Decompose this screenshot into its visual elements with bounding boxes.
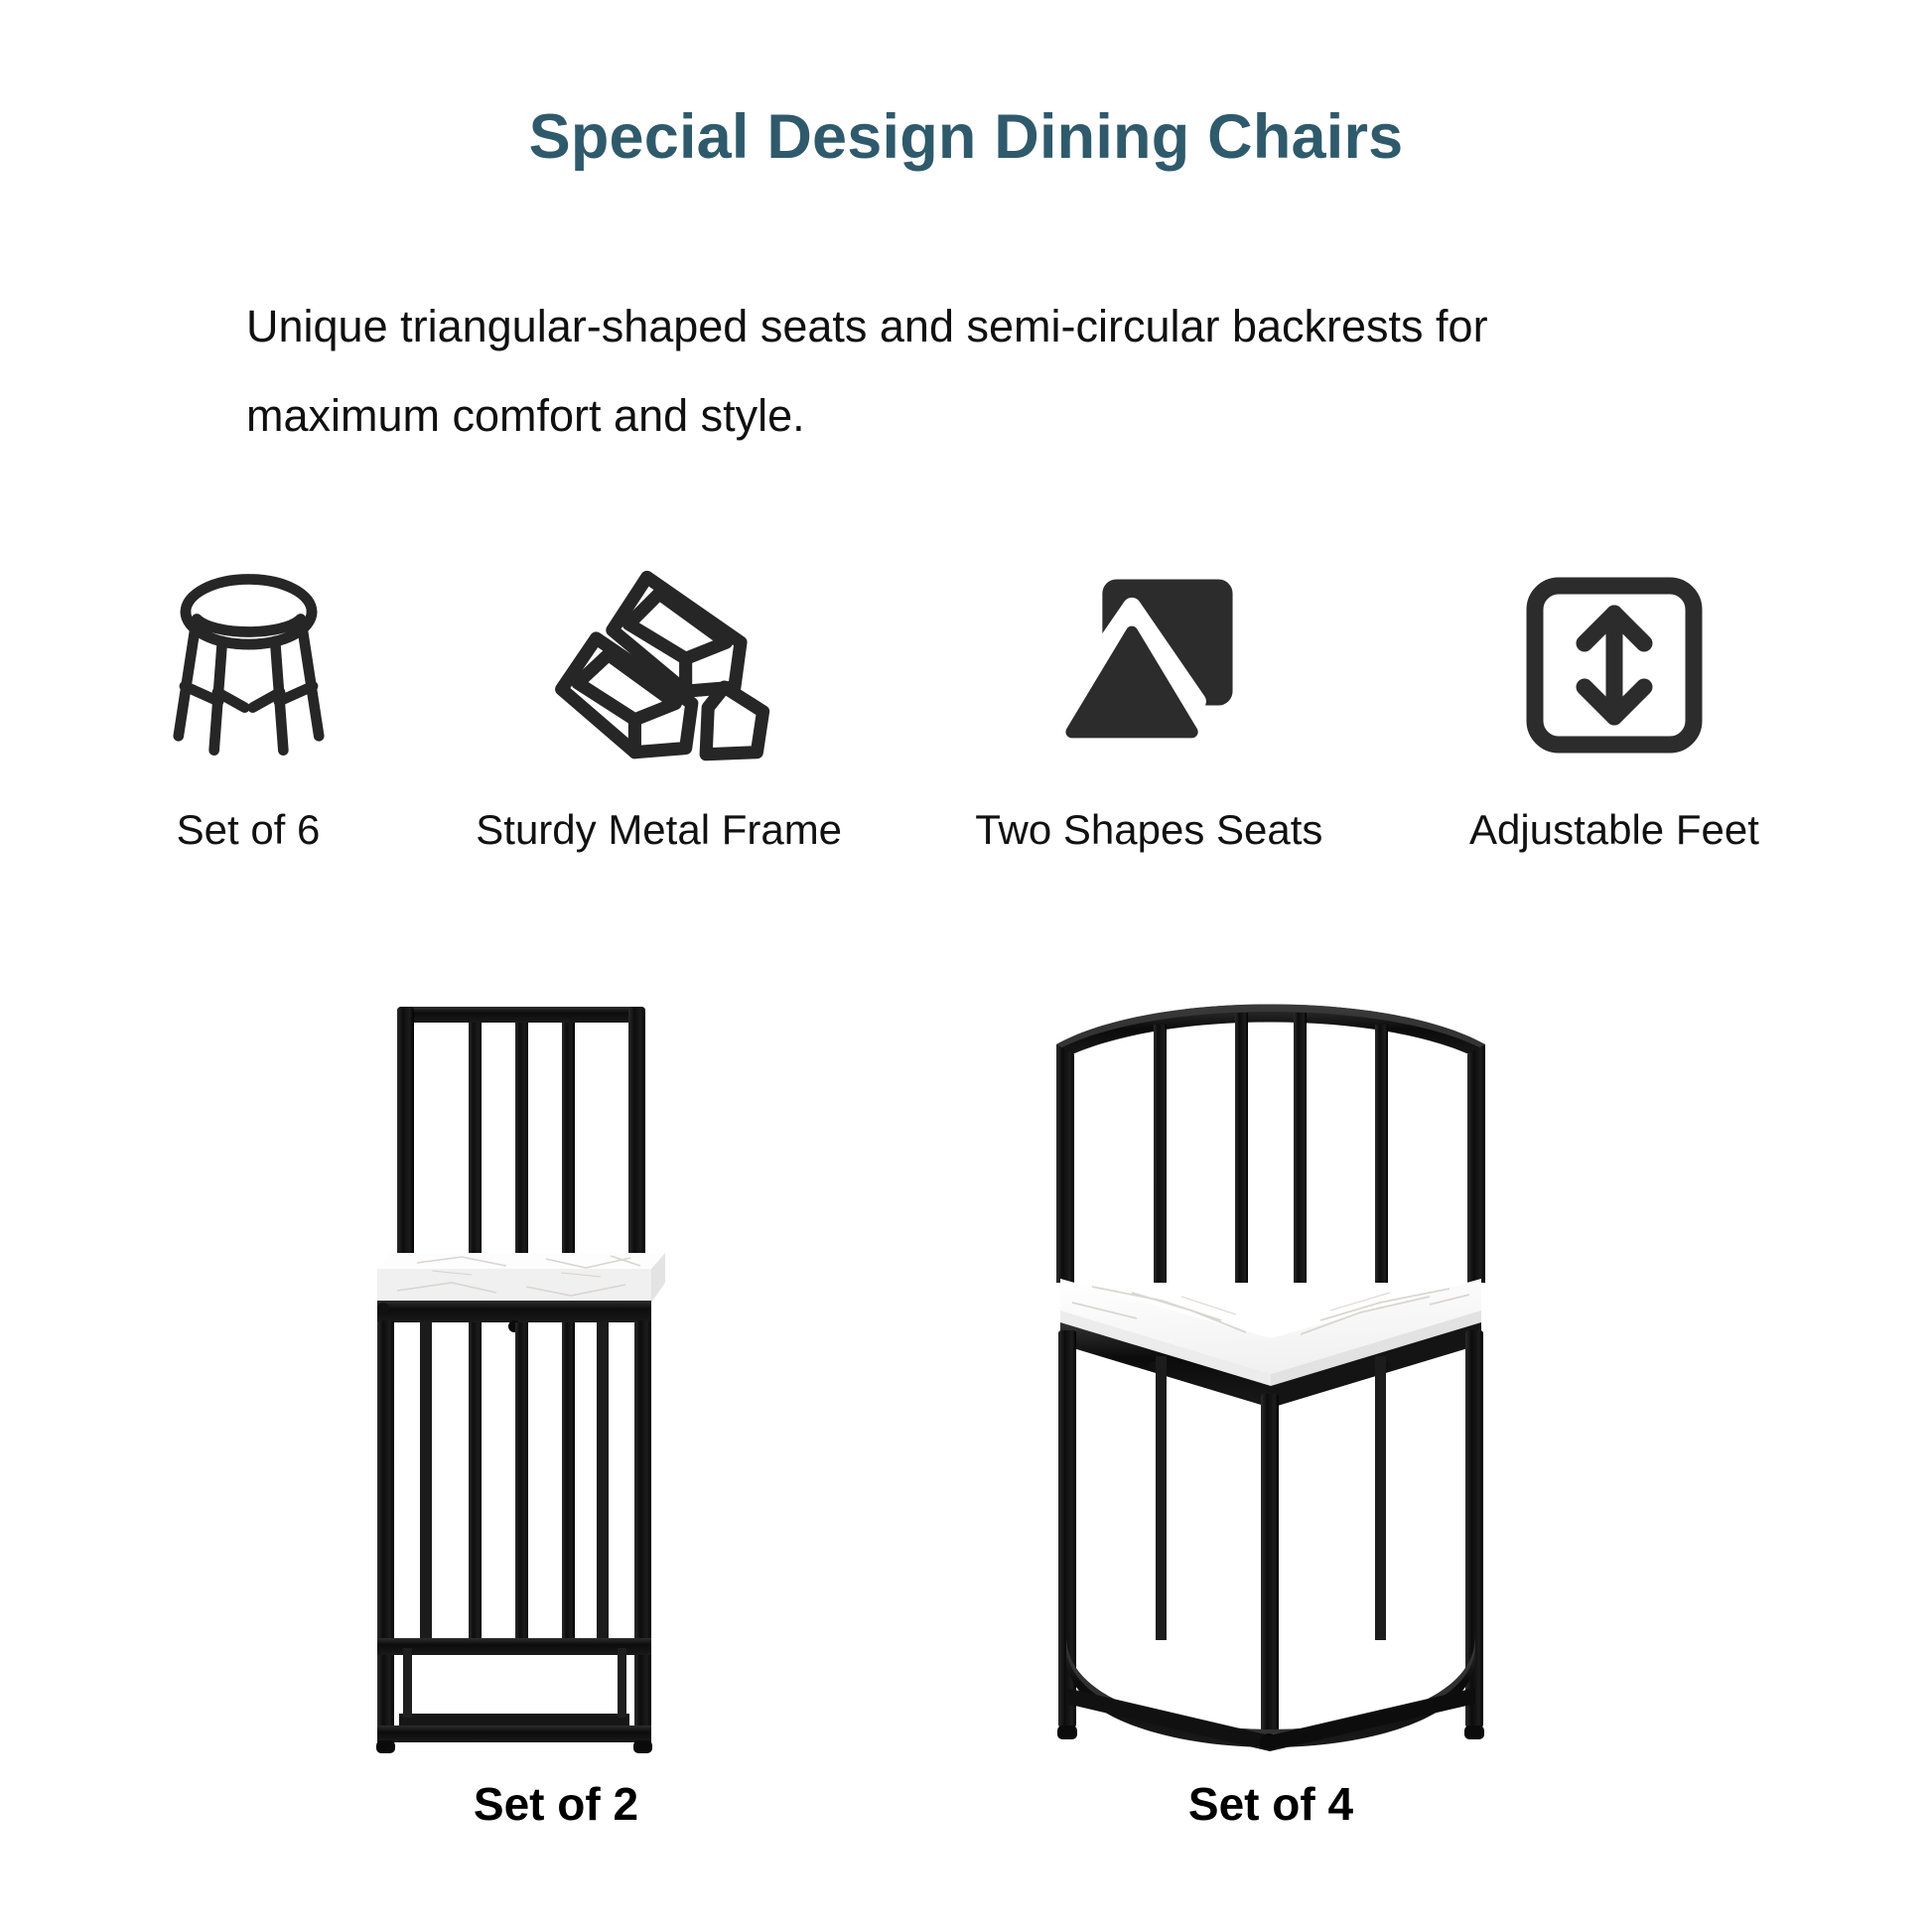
- vertical-resize-arrow-icon: [1515, 536, 1714, 764]
- feature-set-of-6: Set of 6: [119, 536, 377, 854]
- feature-label: Two Shapes Seats: [975, 806, 1322, 854]
- stool-icon: [147, 536, 350, 764]
- feature-adjustable-feet: Adjustable Feet: [1416, 536, 1813, 854]
- page-title: Special Design Dining Chairs: [0, 103, 1932, 172]
- curved-back-chair-photo: [1033, 993, 1509, 1767]
- feature-label: Sturdy Metal Frame: [476, 806, 842, 854]
- caption-set-of-2: Set of 2: [357, 1777, 755, 1831]
- feature-label: Adjustable Feet: [1469, 806, 1759, 854]
- square-back-chair-photo: [357, 993, 755, 1767]
- description-line-1: Unique triangular-shaped seats and semi-…: [246, 282, 1716, 371]
- feature-label: Set of 6: [177, 806, 321, 854]
- infographic-page: Special Design Dining Chairs Unique tria…: [0, 0, 1932, 1932]
- feature-two-shapes-seats: Two Shapes Seats: [940, 536, 1357, 854]
- description-line-2: maximum comfort and style.: [246, 371, 1716, 461]
- feature-row: Set of 6: [119, 536, 1813, 854]
- feature-sturdy-metal-frame: Sturdy Metal Frame: [436, 536, 883, 854]
- caption-set-of-4: Set of 4: [1033, 1777, 1509, 1831]
- product-captions: Set of 2 Set of 4: [0, 1777, 1932, 1847]
- description-text: Unique triangular-shaped seats and semi-…: [246, 282, 1716, 461]
- product-images: [0, 993, 1932, 1767]
- metal-bars-icon: [545, 536, 773, 764]
- two-shapes-icon: [1047, 536, 1251, 764]
